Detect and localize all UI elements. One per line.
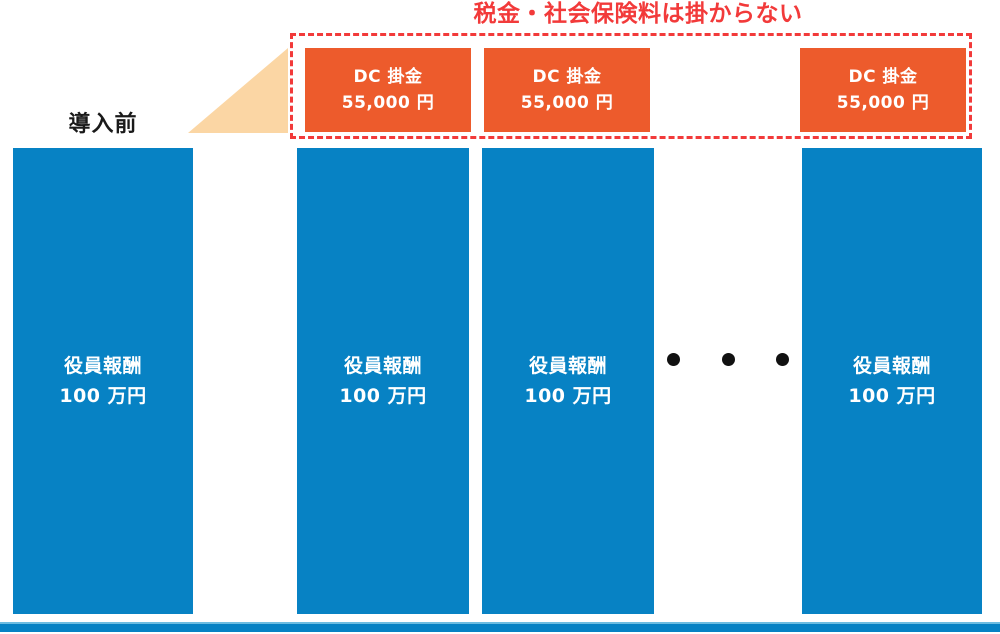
salary-bar-title: 役員報酬 xyxy=(64,351,142,381)
salary-bar-amount: 100 万円 xyxy=(59,381,146,411)
dc-box-amount: 55,000 円 xyxy=(342,90,435,116)
ellipsis-dot xyxy=(722,353,735,366)
bottom-rule xyxy=(0,624,1000,632)
dc-box-title: DC 掛金 xyxy=(353,64,422,90)
dc-contribution-box: DC 掛金 55,000 円 xyxy=(800,48,966,132)
salary-bar-amount: 100 万円 xyxy=(848,381,935,411)
salary-bar-amount: 100 万円 xyxy=(524,381,611,411)
ellipsis-dot xyxy=(776,353,789,366)
dc-box-title: DC 掛金 xyxy=(532,64,601,90)
dc-contribution-box: DC 掛金 55,000 円 xyxy=(484,48,650,132)
dc-box-amount: 55,000 円 xyxy=(521,90,614,116)
transition-triangle-icon xyxy=(188,48,288,133)
dc-box-amount: 55,000 円 xyxy=(837,90,930,116)
salary-bar: 役員報酬 100 万円 xyxy=(802,148,982,614)
before-introduction-label: 導入前 xyxy=(13,110,193,140)
salary-bar-title: 役員報酬 xyxy=(344,351,422,381)
salary-bar-title: 役員報酬 xyxy=(853,351,931,381)
headline-tax-exempt: 税金・社会保険料は掛からない xyxy=(290,0,986,30)
salary-bar: 役員報酬 100 万円 xyxy=(297,148,469,614)
salary-bar: 役員報酬 100 万円 xyxy=(13,148,193,614)
dc-box-title: DC 掛金 xyxy=(848,64,917,90)
ellipsis-continuation-icon xyxy=(667,352,789,366)
salary-bar-amount: 100 万円 xyxy=(339,381,426,411)
salary-bar: 役員報酬 100 万円 xyxy=(482,148,654,614)
dc-contribution-box: DC 掛金 55,000 円 xyxy=(305,48,471,132)
ellipsis-dot xyxy=(667,353,680,366)
salary-bar-title: 役員報酬 xyxy=(529,351,607,381)
diagram-canvas: 税金・社会保険料は掛からない 導入前 DC 掛金 55,000 円 DC 掛金 … xyxy=(0,0,1000,634)
